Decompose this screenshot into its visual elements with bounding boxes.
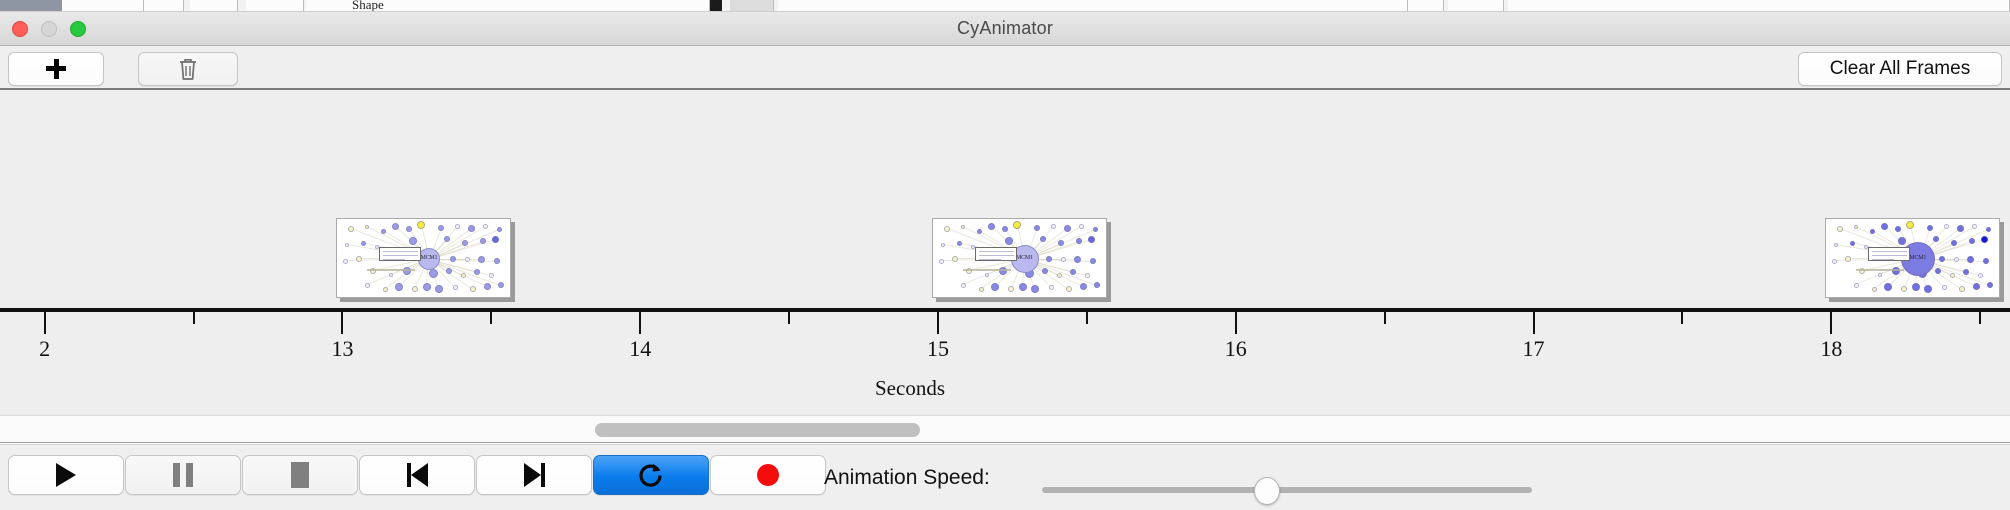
network-node	[465, 257, 470, 262]
network-node	[1832, 259, 1837, 264]
stop-button[interactable]	[242, 455, 358, 495]
network-node	[939, 259, 944, 264]
network-node	[1906, 221, 1914, 229]
hub-node-label: MCM1	[1909, 255, 1926, 261]
ruler-tick-minor	[1086, 312, 1088, 324]
network-node	[1959, 286, 1965, 292]
network-node	[417, 221, 425, 229]
network-node	[1046, 256, 1052, 262]
ruler-tick-label: 18	[1820, 336, 1842, 362]
ruler-tick-major	[1235, 312, 1237, 334]
loop-button[interactable]	[593, 455, 709, 495]
tooltip-text-line	[383, 259, 405, 260]
network-node	[1094, 282, 1100, 288]
network-node	[1950, 273, 1955, 278]
network-node	[957, 241, 962, 246]
network-node	[1972, 224, 1977, 229]
network-node	[497, 227, 502, 232]
close-button[interactable]	[12, 21, 28, 37]
network-node	[444, 236, 450, 242]
ruler-tick-label: 16	[1225, 336, 1247, 362]
network-node	[941, 243, 945, 247]
network-node	[1076, 238, 1082, 244]
skip-to-start-icon	[407, 463, 428, 487]
network-node	[961, 283, 966, 288]
network-node	[1049, 285, 1054, 290]
network-node	[1986, 227, 1991, 232]
zoom-button[interactable]	[70, 21, 86, 37]
network-node	[1034, 225, 1040, 231]
tooltip-text-line	[979, 251, 1014, 252]
hub-node-label: MCM1	[420, 255, 437, 261]
network-node	[1927, 225, 1933, 231]
network-node	[1019, 283, 1027, 291]
network-node	[1854, 283, 1859, 288]
network-node	[979, 287, 984, 292]
network-node	[438, 225, 444, 231]
ruler-tick-minor	[490, 312, 492, 324]
network-node	[1079, 224, 1084, 229]
network-node	[1080, 283, 1087, 290]
network-node	[1878, 273, 1882, 277]
ruler-tick-minor	[1384, 312, 1386, 324]
network-node	[1088, 236, 1095, 243]
network-node	[435, 285, 443, 293]
play-button[interactable]	[8, 455, 124, 495]
add-frame-button[interactable]	[8, 52, 104, 86]
network-node	[343, 259, 348, 264]
network-node	[1981, 236, 1988, 243]
keyframe-thumbnail[interactable]: MCM1	[336, 218, 511, 298]
stop-icon	[291, 462, 309, 488]
network-node	[1935, 268, 1941, 274]
network-node	[1066, 286, 1072, 292]
network-preview: MCM1	[336, 218, 511, 298]
network-node	[988, 223, 995, 230]
minimize-button[interactable]	[41, 21, 57, 37]
network-node	[494, 258, 500, 264]
network-node	[1957, 225, 1964, 232]
animation-speed-label: Animation Speed:	[824, 466, 990, 490]
network-node	[1870, 229, 1875, 234]
network-node	[1013, 221, 1021, 229]
network-node	[1070, 269, 1076, 275]
tooltip-text-line	[979, 255, 1014, 256]
ruler-tick-major	[937, 312, 939, 334]
ruler-tick-major	[341, 312, 343, 334]
ruler-tick-minor	[788, 312, 790, 324]
network-node	[1085, 273, 1090, 278]
network-preview: MCM1	[932, 218, 1107, 298]
network-node	[423, 283, 431, 291]
playback-bar: Animation Speed:	[0, 444, 2010, 510]
cyanimator-window: Shape CyAnimator Clear All Frames MCM1MC…	[0, 0, 2010, 510]
network-node	[498, 282, 504, 288]
title-bar: CyAnimator	[0, 12, 2010, 46]
ruler-tick-label: 2	[39, 336, 50, 362]
ruler-tick-label: 15	[927, 336, 949, 362]
network-node	[1008, 286, 1014, 292]
network-node	[1901, 286, 1907, 292]
network-node	[361, 241, 366, 246]
axis-title-label: Seconds	[875, 376, 945, 400]
network-node	[389, 273, 393, 277]
network-node	[1040, 236, 1046, 242]
ruler-tick-major	[1830, 312, 1832, 334]
network-node	[484, 283, 491, 290]
network-node	[1942, 285, 1947, 290]
network-node	[470, 286, 476, 292]
network-node	[381, 229, 386, 234]
tooltip-text-line	[979, 259, 1001, 260]
network-node	[991, 283, 999, 291]
loop-icon	[636, 460, 666, 490]
window-traffic-lights	[12, 21, 86, 37]
tooltip-text-line	[383, 255, 418, 256]
animation-speed-thumb[interactable]	[1254, 477, 1280, 505]
network-node	[1061, 257, 1066, 262]
horizontal-scrollbar[interactable]	[0, 415, 2010, 443]
keyframe-thumbnail[interactable]: MCM1	[1825, 218, 2000, 298]
ruler-tick-minor	[1681, 312, 1683, 324]
ruler-tick-label: 17	[1523, 336, 1545, 362]
node-tooltip	[1868, 247, 1910, 261]
network-node	[1987, 282, 1993, 288]
ruler-tick-label: 13	[331, 336, 353, 362]
network-node	[1954, 257, 1959, 262]
node-tooltip	[379, 247, 421, 261]
network-node	[985, 273, 989, 277]
network-node	[461, 273, 466, 278]
network-node	[474, 269, 480, 275]
network-node	[1973, 283, 1980, 290]
network-node	[392, 223, 399, 230]
network-node	[1850, 241, 1855, 246]
network-node	[492, 236, 499, 243]
network-node	[450, 256, 456, 262]
tooltip-text-line	[1872, 255, 1907, 256]
network-node	[1074, 256, 1081, 263]
clear-all-frames-button[interactable]: Clear All Frames	[1798, 52, 2002, 86]
window-title: CyAnimator	[0, 18, 2010, 39]
ruler-tick-minor	[193, 312, 195, 324]
network-node	[1963, 269, 1969, 275]
network-node	[1872, 287, 1877, 292]
network-node	[1090, 258, 1096, 264]
background-desktop-strip: Shape	[0, 0, 2010, 12]
tooltip-text-line	[383, 251, 418, 252]
network-node	[1093, 227, 1098, 232]
pause-button[interactable]	[125, 455, 241, 495]
tooltip-text-line	[1872, 259, 1894, 260]
network-node	[446, 268, 452, 274]
hub-node-label: MCM1	[1016, 255, 1033, 261]
network-preview: MCM1	[1825, 218, 2000, 298]
skip-to-end-icon	[524, 463, 545, 487]
ruler-baseline	[0, 308, 2010, 312]
network-node	[1057, 273, 1062, 278]
network-node	[1002, 226, 1008, 232]
network-node	[1978, 273, 1983, 278]
network-node	[1912, 283, 1920, 291]
network-node	[480, 238, 486, 244]
network-node	[1933, 236, 1939, 242]
delete-frame-button[interactable]	[138, 52, 238, 86]
network-node	[1944, 224, 1949, 229]
axis-title: Seconds	[0, 376, 2010, 401]
ruler-tick-minor	[1979, 312, 1981, 324]
network-node	[1881, 223, 1888, 230]
timeline-panel[interactable]: MCM1MCM1MCM1 2131415161718 Seconds	[0, 90, 2010, 415]
skip-to-start-button[interactable]	[359, 455, 475, 495]
network-annotation	[963, 269, 1011, 271]
network-node	[356, 256, 362, 262]
scrollbar-thumb[interactable]	[595, 423, 920, 437]
animation-speed-slider[interactable]	[1042, 487, 1532, 493]
network-node	[1051, 224, 1056, 229]
network-node	[1834, 243, 1838, 247]
keyframe-track[interactable]: MCM1MCM1MCM1	[0, 90, 2010, 308]
skip-to-end-button[interactable]	[476, 455, 592, 495]
record-icon	[757, 464, 779, 486]
tooltip-text-line	[1872, 251, 1907, 252]
network-node	[412, 286, 418, 292]
pause-icon	[173, 463, 193, 487]
network-node	[453, 285, 458, 290]
keyframe-thumbnail[interactable]: MCM1	[932, 218, 1107, 298]
network-node	[1064, 225, 1071, 232]
trash-icon	[176, 56, 200, 82]
network-node	[1967, 256, 1974, 263]
network-node	[1939, 256, 1945, 262]
network-node	[345, 243, 349, 247]
toolbar: Clear All Frames	[0, 46, 2010, 90]
network-annotation	[367, 269, 415, 271]
ruler-tick-major	[44, 312, 46, 334]
clear-all-frames-label: Clear All Frames	[1830, 58, 1970, 80]
network-node	[1031, 285, 1039, 293]
ruler-tick-label: 14	[629, 336, 651, 362]
network-node	[365, 283, 370, 288]
network-node	[1005, 237, 1013, 245]
network-node	[1983, 258, 1989, 264]
network-node	[944, 226, 950, 232]
network-node	[468, 225, 475, 232]
ruler-tick-major	[1533, 312, 1535, 334]
node-tooltip	[975, 247, 1017, 261]
network-node	[483, 224, 488, 229]
network-node	[961, 225, 965, 229]
record-button[interactable]	[710, 455, 826, 495]
network-node	[1969, 238, 1975, 244]
network-node	[383, 287, 388, 292]
play-icon	[56, 463, 76, 487]
network-node	[952, 256, 958, 262]
network-node	[1845, 256, 1851, 262]
network-node	[977, 229, 982, 234]
ruler-tick-major	[639, 312, 641, 334]
network-node	[478, 256, 485, 263]
plus-icon	[45, 58, 67, 80]
network-annotation	[1856, 269, 1904, 271]
network-node	[1884, 283, 1892, 291]
network-node	[1924, 285, 1932, 293]
network-node	[395, 283, 403, 291]
network-node	[455, 224, 460, 229]
network-node	[1837, 226, 1843, 232]
network-node	[489, 273, 494, 278]
network-node	[1042, 268, 1048, 274]
network-node	[1058, 240, 1064, 246]
network-node	[348, 226, 354, 232]
